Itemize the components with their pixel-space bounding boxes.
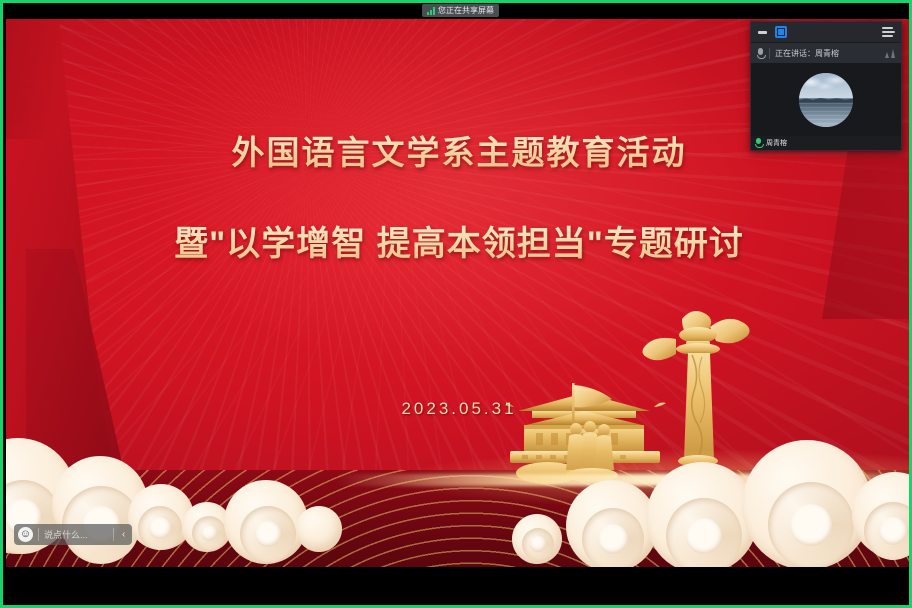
emoji-smiley-icon[interactable]: ☺ [18, 527, 33, 542]
slide-date: 2023.05.31 [6, 399, 912, 419]
exit-view-icon[interactable] [882, 27, 895, 38]
participant-name-label: 周青榕 [766, 138, 787, 148]
slide-title-sub: 暨"以学增智 提高本领担当"专题研讨 [6, 216, 912, 265]
audio-level-icon [885, 48, 895, 58]
chat-input-bar[interactable]: ☺ 说点什么... ‹ [14, 524, 132, 545]
screen-share-status-bar: 您正在共享屏幕 [3, 3, 909, 19]
minimize-icon[interactable] [757, 27, 768, 38]
share-status-pill[interactable]: 您正在共享屏幕 [422, 4, 499, 17]
speaker-divider [769, 48, 770, 59]
signal-bars-icon [427, 7, 435, 15]
restore-window-icon[interactable] [775, 26, 787, 38]
chat-divider-1 [38, 528, 39, 541]
zoom-panel-titlebar [751, 22, 901, 42]
chat-input[interactable]: 说点什么... [44, 528, 108, 541]
chat-divider-2 [113, 528, 114, 541]
active-speaker-row: 正在讲话：周青榕 [751, 42, 901, 63]
share-status-label: 您正在共享屏幕 [438, 4, 494, 17]
active-speaker-label: 正在讲话：周青榕 [775, 48, 880, 59]
zoom-panel-bottom-bar: 周青榕 [751, 136, 901, 150]
participant-avatar-photo [799, 73, 853, 127]
bottom-black-strip [3, 567, 909, 605]
zoom-video-area[interactable] [751, 63, 901, 136]
microphone-icon [757, 48, 764, 59]
screen-capture-frame: 您正在共享屏幕 外国语言文学系主题教育活动 暨"以学增智 提高本领担当"专题研讨… [0, 0, 912, 608]
view-list-icon[interactable] [794, 27, 805, 38]
microphone-unmuted-icon[interactable] [755, 138, 762, 148]
huabiao-column-icon [642, 311, 749, 467]
zoom-floating-video-panel[interactable]: 正在讲话：周青榕 周青榕 [750, 21, 902, 151]
chevron-left-icon[interactable]: ‹ [119, 529, 128, 540]
